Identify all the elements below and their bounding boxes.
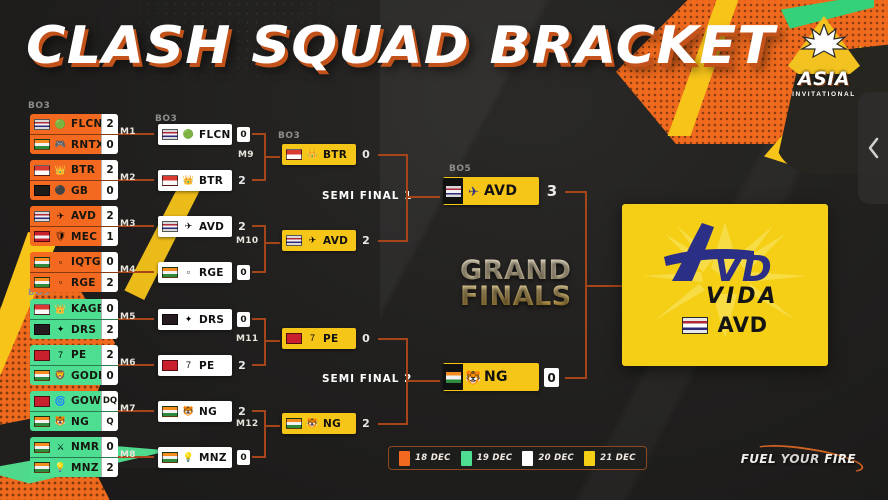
connector bbox=[264, 425, 280, 427]
team-score: 0 bbox=[101, 299, 118, 319]
team-logo-icon: 💡 bbox=[54, 461, 67, 474]
legend-swatch-18-dec bbox=[399, 451, 410, 466]
team-name: NG bbox=[323, 418, 341, 430]
legend-swatch-19-dec bbox=[461, 451, 472, 466]
match-card-sf2-ng[interactable]: 🐯 NG 2 bbox=[282, 413, 356, 434]
team-row[interactable]: ✦ DRS 2 bbox=[30, 319, 118, 339]
flag-icon bbox=[34, 231, 50, 242]
team-score: 2 bbox=[356, 413, 376, 434]
team-row[interactable]: ▫ IQTG 0 bbox=[30, 252, 118, 272]
flag-icon bbox=[34, 324, 50, 335]
logo-subtitle: INVITATIONAL bbox=[792, 91, 856, 98]
team-logo-icon: 👑 bbox=[306, 148, 319, 161]
date-legend: 18 DEC 19 DEC 20 DEC 21 DEC bbox=[388, 446, 647, 470]
flag-icon bbox=[443, 364, 463, 390]
match-card-sf1-avd[interactable]: ✈ AVD 2 bbox=[282, 230, 356, 251]
match-card-final-avd[interactable]: ✈ AVD 3 bbox=[443, 177, 539, 205]
team-name: AVD bbox=[484, 183, 517, 199]
team-score: 0 bbox=[101, 135, 118, 154]
match-label-m2: M2 bbox=[120, 173, 136, 183]
team-score: 2 bbox=[101, 114, 118, 134]
team-name: AVD bbox=[323, 235, 348, 247]
match-card-r2-ng[interactable]: 🐯 NG 2 bbox=[158, 401, 232, 422]
team-name: DRS bbox=[71, 324, 96, 336]
flag-icon bbox=[34, 304, 50, 315]
flag-icon bbox=[34, 257, 50, 268]
team-score: 0 bbox=[101, 181, 118, 200]
team-logo-icon: ✈ bbox=[306, 234, 319, 247]
match-label-m12: M12 bbox=[236, 419, 258, 429]
team-name: RNTX bbox=[71, 139, 104, 151]
svg-text:VIDA: VIDA bbox=[706, 284, 779, 305]
team-score: 2 bbox=[356, 230, 376, 251]
team-logo-icon: 👑 bbox=[54, 303, 67, 316]
flag-icon bbox=[34, 462, 50, 473]
team-score: 2 bbox=[101, 160, 118, 180]
team-score: 0 bbox=[356, 328, 376, 349]
flag-icon bbox=[34, 442, 50, 453]
match-card-final-ng[interactable]: 🐯 NG 0 bbox=[443, 363, 539, 391]
legend-label: 21 DEC bbox=[600, 453, 636, 463]
team-logo-icon: 🐯 bbox=[182, 405, 195, 418]
team-score: 0 bbox=[237, 265, 250, 280]
team-name: PE bbox=[323, 333, 338, 345]
team-score: 0 bbox=[544, 368, 559, 387]
legend-swatch-20-dec bbox=[522, 451, 533, 466]
connector bbox=[378, 423, 408, 425]
flag-icon bbox=[443, 178, 463, 204]
match-label-m1: M1 bbox=[120, 127, 136, 137]
fuel-word-3: FIRE bbox=[824, 452, 856, 466]
connector bbox=[264, 225, 266, 273]
team-logo-icon: ▫ bbox=[54, 276, 67, 289]
team-score: 0 bbox=[101, 252, 118, 272]
team-logo-icon: ✦ bbox=[182, 313, 195, 326]
team-name: NG bbox=[199, 406, 217, 418]
flag-icon bbox=[286, 418, 302, 429]
flag-icon bbox=[34, 139, 50, 150]
flag-icon bbox=[34, 211, 50, 222]
team-name: DRS bbox=[199, 314, 224, 326]
team-row[interactable]: 💡 MNZ 2 bbox=[30, 457, 118, 477]
match-label-m8: M8 bbox=[120, 450, 136, 460]
flag-icon bbox=[34, 165, 50, 176]
team-name: AVD bbox=[71, 210, 96, 222]
team-name: NG bbox=[71, 416, 89, 428]
team-name: MNZ bbox=[71, 462, 99, 474]
team-name: GOW bbox=[71, 395, 101, 407]
semi-final-2-label: SEMI FINAL 2 bbox=[322, 373, 412, 385]
team-name: IQTG bbox=[71, 256, 101, 268]
team-row[interactable]: 🌀 GOW DQ bbox=[30, 391, 118, 411]
team-logo-icon: 🛡 bbox=[54, 230, 67, 243]
team-score: 3 bbox=[539, 177, 565, 205]
match-card-sf2-pe[interactable]: 7 PE 0 bbox=[282, 328, 356, 349]
team-logo-icon: ▫ bbox=[54, 256, 67, 269]
flag-icon bbox=[162, 267, 178, 278]
flag-icon bbox=[682, 317, 708, 334]
team-logo-icon: 👑 bbox=[182, 174, 195, 187]
team-logo-icon: 🦁 bbox=[54, 369, 67, 382]
round-label-r1-top: BO3 bbox=[28, 101, 50, 111]
team-name: BTR bbox=[199, 175, 223, 187]
team-row[interactable]: 🎮 RNTX 0 bbox=[30, 134, 118, 154]
team-name: BTR bbox=[323, 149, 347, 161]
flag-icon bbox=[34, 350, 50, 361]
match-card-r2-rge[interactable]: ▫ RGE 0 bbox=[158, 262, 232, 283]
connector bbox=[378, 240, 408, 242]
flag-icon bbox=[162, 406, 178, 417]
team-logo-icon: 🎮 bbox=[54, 138, 67, 151]
legend-item: 18 DEC bbox=[399, 451, 451, 466]
connector bbox=[565, 377, 587, 379]
fuel-word-2: YOUR bbox=[781, 452, 820, 466]
team-name: MEC bbox=[71, 231, 97, 243]
fuel-word-1: FUEL bbox=[741, 452, 776, 466]
team-score: 2 bbox=[101, 320, 118, 339]
connector bbox=[378, 154, 408, 156]
bracket-screen: CLASH SQUAD BRACKET ASIA INVITATIONAL BO… bbox=[0, 0, 888, 500]
team-name: BTR bbox=[71, 164, 95, 176]
team-row[interactable]: 🛡 MEC 1 bbox=[30, 226, 118, 246]
team-name: AVD bbox=[199, 221, 224, 233]
flag-icon bbox=[286, 149, 302, 160]
match-label-m7: M7 bbox=[120, 404, 136, 414]
team-logo-icon: ⚔ bbox=[54, 441, 67, 454]
team-logo-icon: ▫ bbox=[182, 266, 195, 279]
flag-icon bbox=[162, 314, 178, 325]
team-score: Q bbox=[101, 412, 118, 431]
grand-finals-label: GRAND FINALS bbox=[460, 258, 572, 311]
flag-icon bbox=[34, 185, 50, 196]
match-card-r2-avd[interactable]: ✈ AVD 2 bbox=[158, 216, 232, 237]
team-logo-icon: 🟢 bbox=[54, 118, 67, 131]
team-name: RGE bbox=[199, 267, 224, 279]
match-label-m9: M9 bbox=[238, 150, 254, 160]
team-row[interactable]: 7 PE 2 bbox=[30, 345, 118, 365]
team-score: 0 bbox=[237, 450, 250, 465]
team-logo-icon: ✈ bbox=[467, 185, 480, 198]
team-logo-icon: ✈ bbox=[54, 210, 67, 223]
flag-icon bbox=[34, 396, 50, 407]
team-score: 2 bbox=[101, 273, 118, 292]
flag-icon bbox=[34, 119, 50, 130]
champion-name: AVD bbox=[717, 313, 767, 337]
flag-icon bbox=[34, 277, 50, 288]
champion-panel: VD VIDA AVD bbox=[622, 204, 828, 366]
flag-icon bbox=[162, 360, 178, 371]
match-card-m3[interactable]: ✈ AVD 2 🛡 MEC 1 bbox=[30, 206, 118, 246]
connector bbox=[406, 380, 440, 382]
flag-icon bbox=[34, 370, 50, 381]
match-card-r2-pe[interactable]: 7 PE 2 bbox=[158, 355, 232, 376]
match-card-m4[interactable]: ▫ IQTG 0 ▫ RGE 2 bbox=[30, 252, 118, 292]
team-name: NG bbox=[484, 369, 508, 385]
flag-icon bbox=[34, 416, 50, 427]
semi-final-1-label: SEMI FINAL 1 bbox=[322, 190, 412, 202]
team-name: FLCN bbox=[71, 118, 103, 130]
match-card-sf1-btr[interactable]: 👑 BTR 0 bbox=[282, 144, 356, 165]
team-logo-icon: 7 bbox=[182, 359, 195, 372]
logo-title: ASIA bbox=[798, 70, 850, 89]
team-score: 0 bbox=[101, 366, 118, 385]
legend-item: 20 DEC bbox=[522, 451, 574, 466]
team-logo-icon: 7 bbox=[54, 349, 67, 362]
match-card-m7[interactable]: 🌀 GOW DQ 🐯 NG Q bbox=[30, 391, 118, 431]
legend-label: 19 DEC bbox=[477, 453, 513, 463]
team-score: 1 bbox=[101, 227, 118, 246]
team-score: 2 bbox=[101, 458, 118, 477]
fuel-your-fire-tagline: FUEL YOUR FIRE bbox=[741, 452, 856, 466]
flag-icon bbox=[286, 333, 302, 344]
team-row[interactable]: 👑 BTR 2 bbox=[30, 160, 118, 180]
team-score: 0 bbox=[237, 312, 250, 327]
champion-logo: VD VIDA bbox=[650, 219, 800, 305]
team-row[interactable]: 🦁 GODL 0 bbox=[30, 365, 118, 385]
team-score: 0 bbox=[237, 127, 250, 142]
connector bbox=[585, 285, 623, 287]
team-row[interactable]: ⚫ GB 0 bbox=[30, 180, 118, 200]
match-label-m10: M10 bbox=[236, 236, 258, 246]
match-card-r2-btr[interactable]: 👑 BTR 2 bbox=[158, 170, 232, 191]
round-label-sf-top: BO3 bbox=[278, 131, 300, 141]
team-logo-icon: 7 bbox=[306, 332, 319, 345]
flag-icon bbox=[286, 235, 302, 246]
connector bbox=[264, 318, 266, 366]
team-score: 2 bbox=[101, 206, 118, 226]
match-card-r2-flcn[interactable]: 🟢 FLCN 0 bbox=[158, 124, 232, 145]
match-label-m5: M5 bbox=[120, 312, 136, 322]
team-row[interactable]: ✈ AVD 2 bbox=[30, 206, 118, 226]
team-logo-icon: ✈ bbox=[182, 220, 195, 233]
connector bbox=[264, 410, 266, 458]
flag-icon bbox=[162, 221, 178, 232]
team-score: 2 bbox=[101, 345, 118, 365]
connector bbox=[264, 242, 280, 244]
flag-icon bbox=[162, 452, 178, 463]
connector bbox=[406, 196, 440, 198]
team-logo-icon: 🐯 bbox=[467, 371, 480, 384]
round-label-final: BO5 bbox=[449, 164, 471, 174]
match-card-m5[interactable]: 👑 KAGE 0 ✦ DRS 2 bbox=[30, 299, 118, 339]
legend-label: 20 DEC bbox=[538, 453, 574, 463]
team-name: PE bbox=[71, 349, 86, 361]
round-label-r2-top: BO3 bbox=[155, 114, 177, 124]
match-card-m6[interactable]: 7 PE 2 🦁 GODL 0 bbox=[30, 345, 118, 385]
legend-item: 21 DEC bbox=[584, 451, 636, 466]
team-row[interactable]: ▫ RGE 2 bbox=[30, 272, 118, 292]
team-logo-icon: 🌀 bbox=[54, 395, 67, 408]
legend-swatch-21-dec bbox=[584, 451, 595, 466]
match-card-m1[interactable]: 🟢 FLCN 2 🎮 RNTX 0 bbox=[30, 114, 118, 154]
team-score: 0 bbox=[101, 437, 118, 457]
team-score: 2 bbox=[232, 355, 252, 376]
champion-identity: AVD bbox=[682, 313, 767, 337]
match-card-r2-drs[interactable]: ✦ DRS 0 bbox=[158, 309, 232, 330]
team-name: KAGE bbox=[71, 303, 104, 315]
team-logo-icon: 🟢 bbox=[182, 128, 195, 141]
team-logo-icon: 💡 bbox=[182, 451, 195, 464]
team-logo-icon: 🐯 bbox=[306, 417, 319, 430]
match-label-m6: M6 bbox=[120, 358, 136, 368]
team-name: GB bbox=[71, 185, 88, 197]
team-score: 2 bbox=[232, 170, 252, 191]
team-name: FLCN bbox=[199, 129, 231, 141]
team-name: MNZ bbox=[199, 452, 227, 464]
team-row[interactable]: 🐯 NG Q bbox=[30, 411, 118, 431]
team-score: 2 bbox=[232, 216, 252, 237]
connector bbox=[406, 154, 408, 242]
team-score: DQ bbox=[101, 391, 118, 411]
match-label-m11: M11 bbox=[236, 334, 258, 344]
flag-icon bbox=[162, 175, 178, 186]
flag-icon bbox=[162, 129, 178, 140]
team-logo-icon: ✦ bbox=[54, 323, 67, 336]
team-name: NMR bbox=[71, 441, 99, 453]
team-name: PE bbox=[199, 360, 214, 372]
team-logo-icon: 👑 bbox=[54, 164, 67, 177]
team-row[interactable]: 👑 KAGE 0 bbox=[30, 299, 118, 319]
team-logo-icon: 🐯 bbox=[54, 415, 67, 428]
match-label-m3: M3 bbox=[120, 219, 136, 229]
match-card-r2-mnz[interactable]: 💡 MNZ 0 bbox=[158, 447, 232, 468]
legend-item: 19 DEC bbox=[461, 451, 513, 466]
match-card-m8[interactable]: ⚔ NMR 0 💡 MNZ 2 bbox=[30, 437, 118, 477]
match-label-m4: M4 bbox=[120, 265, 136, 275]
team-score: 0 bbox=[356, 144, 376, 165]
team-logo-icon: ⚫ bbox=[54, 184, 67, 197]
team-row[interactable]: ⚔ NMR 0 bbox=[30, 437, 118, 457]
connector bbox=[565, 191, 587, 193]
connector bbox=[264, 156, 280, 158]
match-card-m2[interactable]: 👑 BTR 2 ⚫ GB 0 bbox=[30, 160, 118, 200]
team-row[interactable]: 🟢 FLCN 2 bbox=[30, 114, 118, 134]
connector bbox=[264, 340, 280, 342]
legend-label: 18 DEC bbox=[415, 453, 451, 463]
connector bbox=[378, 338, 408, 340]
grand-finals-line-2: FINALS bbox=[460, 284, 572, 310]
team-name: RGE bbox=[71, 277, 96, 289]
